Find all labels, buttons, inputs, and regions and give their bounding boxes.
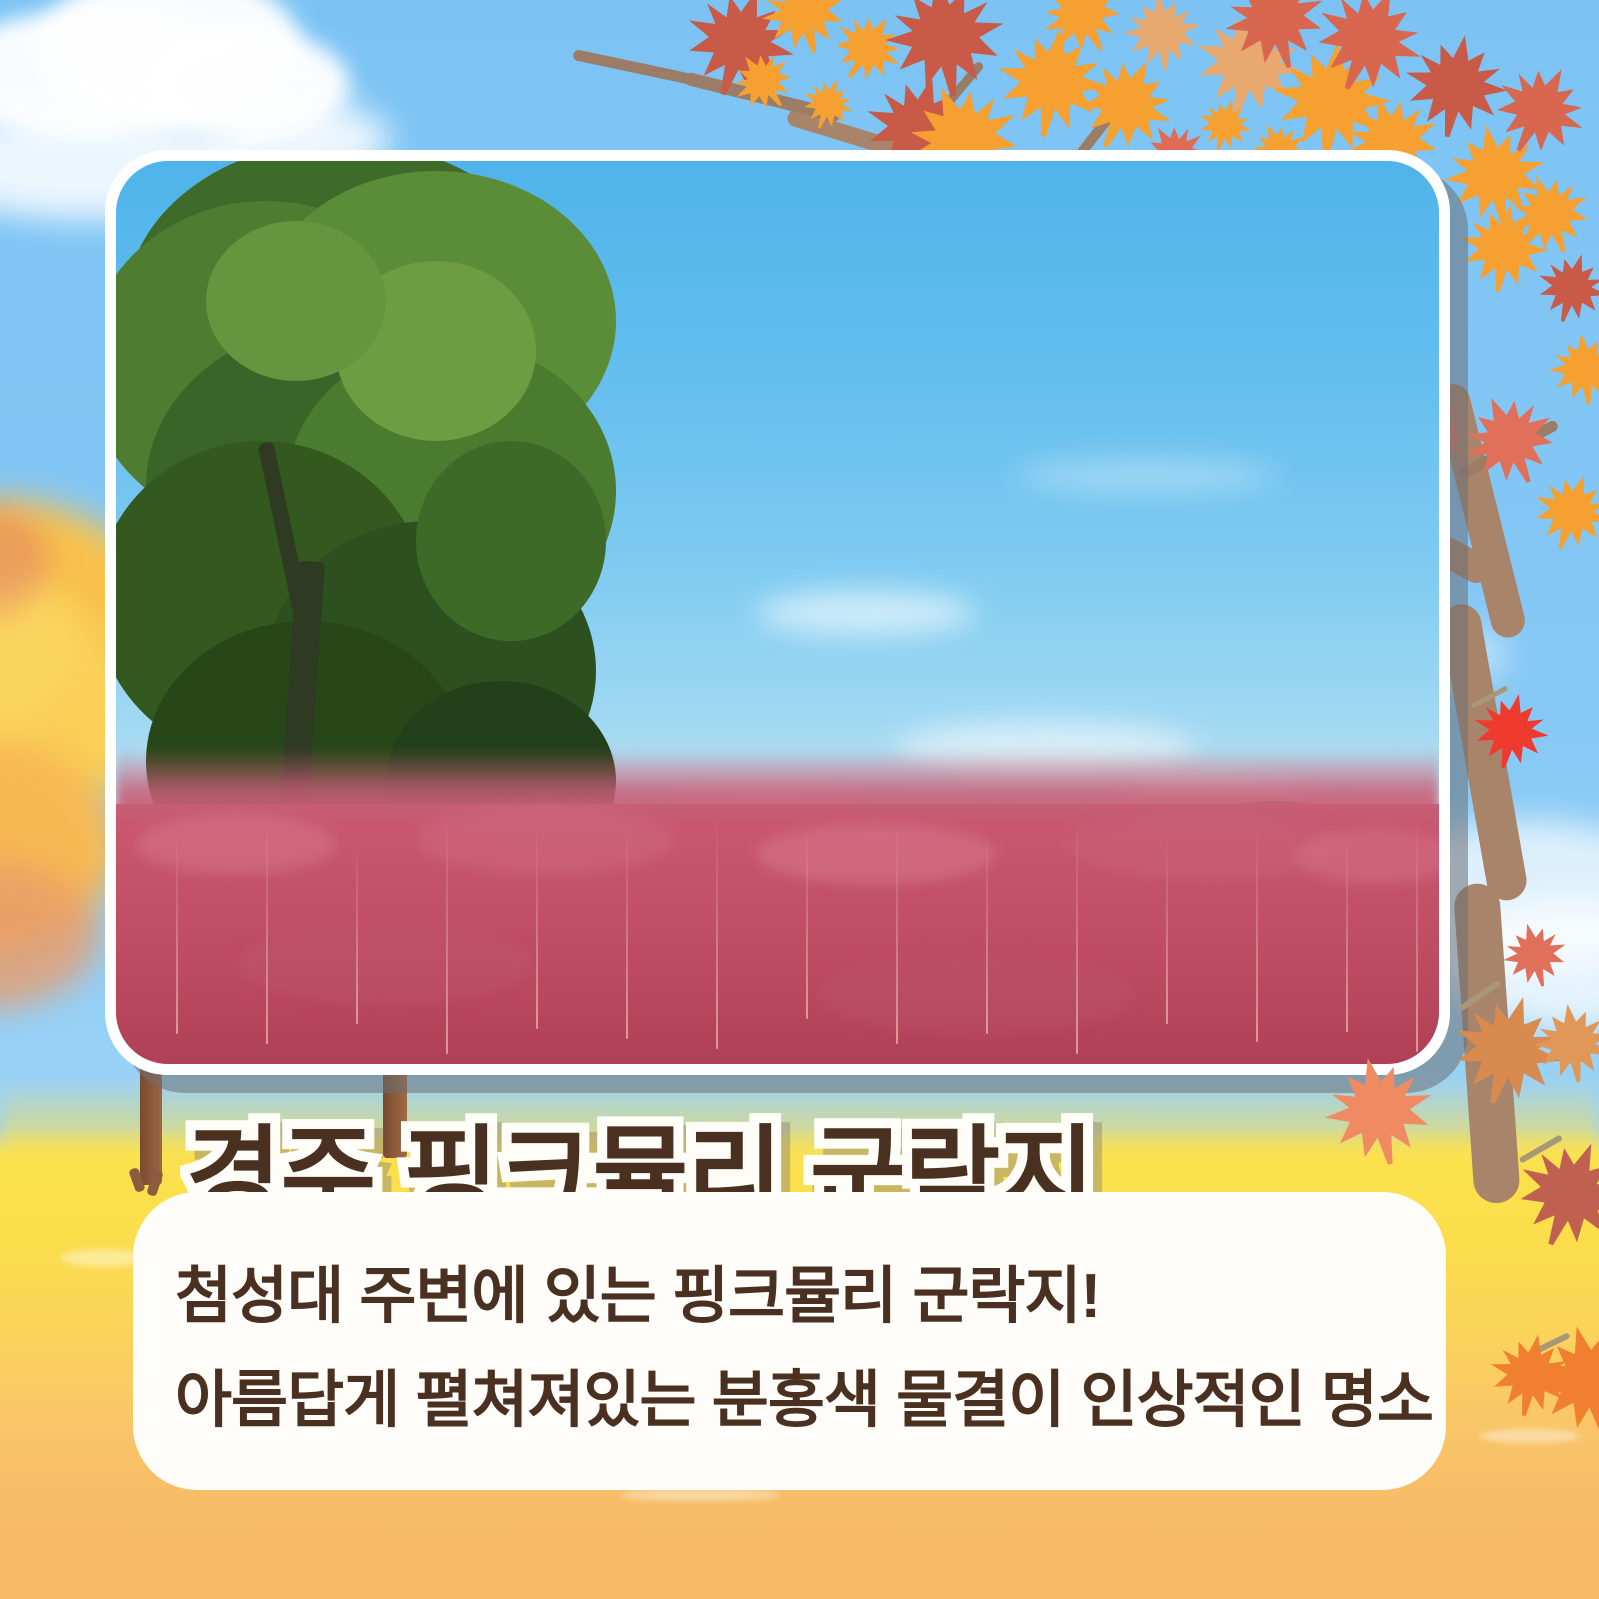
- caption-line-1: 첨성대 주변에 있는 핑크뮬리 군락지!: [175, 1266, 1100, 1328]
- photo-card: [105, 150, 1450, 1075]
- caption-line-2: 아름답게 펼쳐져있는 분홍색 물결이 인상적인 명소: [175, 1370, 1433, 1432]
- photo-image: [116, 161, 1439, 1064]
- poster-canvas: 경주 핑크뮬리 군락지 첨성대 주변에 있는 핑크뮬리 군락지! 아름답게 펼쳐…: [0, 0, 1599, 1599]
- caption-card: 첨성대 주변에 있는 핑크뮬리 군락지! 아름답게 펼쳐져있는 분홍색 물결이 …: [133, 1192, 1446, 1490]
- photo-muhly-field: [116, 804, 1439, 1064]
